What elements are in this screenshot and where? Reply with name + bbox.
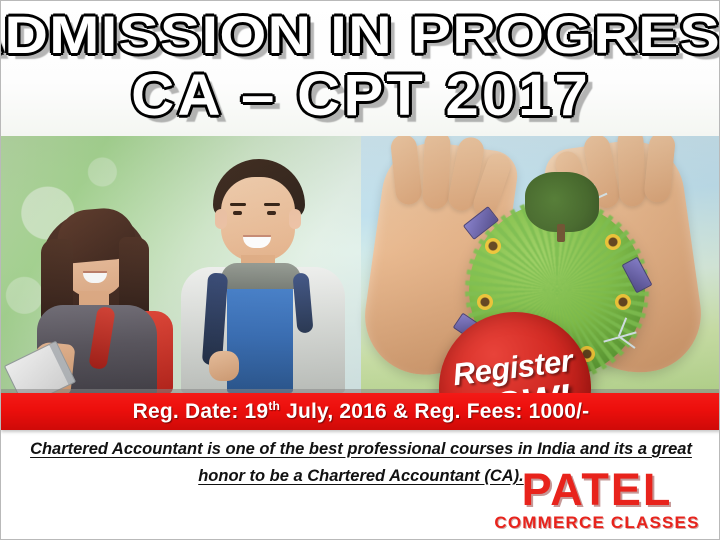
headline-course: CA – CPT 2017 (1, 64, 720, 128)
tagline-line-1: Chartered Accountant is one of the best … (12, 435, 710, 462)
hand-left-finger-2 (422, 136, 451, 209)
hand-right-finger-4 (643, 136, 676, 203)
wind-turbine-icon (603, 331, 636, 342)
registration-date-prefix: Reg. Date: 19 (133, 400, 269, 423)
logo-name: PATEL (489, 467, 705, 513)
boy-hair (213, 159, 305, 219)
girl-hair-side-left (41, 239, 73, 335)
girl-neck (79, 291, 109, 313)
boy-eye-right (267, 211, 276, 215)
registration-banner: Reg. Date: 19th July, 2016 & Reg. Fees: … (1, 393, 720, 430)
badge-text-group: Register NOW! (430, 303, 599, 393)
hand-right-finger-1 (552, 148, 596, 216)
girl-eye-left (75, 251, 83, 255)
boy-jacket (181, 267, 345, 393)
sunflower-icon (615, 294, 631, 310)
boy-brow-left (230, 203, 246, 206)
photo-band: Register NOW! (1, 136, 720, 393)
hand-left-finger-3 (446, 136, 486, 213)
registration-banner-text: Reg. Date: 19th July, 2016 & Reg. Fees: … (133, 399, 590, 424)
students-photo (1, 136, 391, 393)
girl-hair-front (55, 206, 137, 265)
boy-ear-left (215, 209, 227, 229)
sunflower-icon (477, 294, 493, 310)
sunflower-icon (605, 234, 621, 250)
sunflower-icon (485, 238, 501, 254)
girl-backpack-strap (88, 306, 115, 370)
hand-right-finger-3 (617, 136, 646, 207)
boy-neck (241, 255, 275, 277)
boy-blue-shirt (227, 267, 293, 393)
solar-panel-icon (463, 206, 499, 240)
wind-turbine-icon (585, 184, 595, 217)
boy-brow-right (264, 203, 280, 206)
girl-red-backpack (113, 311, 173, 393)
boy-eye-left (233, 211, 242, 215)
poster-advertisement: ADMISSION IN PROGRESS CA – CPT 2017 (0, 0, 720, 540)
logo-subtitle: COMMERCE CLASSES (489, 513, 705, 533)
hand-left-finger-1 (390, 136, 423, 206)
student-boy (169, 155, 359, 393)
institute-logo: PATEL COMMERCE CLASSES (489, 467, 705, 533)
girl-top (37, 305, 157, 393)
solar-panel-icon (622, 257, 653, 294)
boy-ear-right (289, 209, 301, 229)
boy-backpack-strap-right (292, 272, 313, 333)
girl-hair-back (41, 211, 149, 337)
student-girl (27, 193, 177, 393)
headline-primary: ADMISSION IN PROGRESS (1, 7, 720, 65)
photo-top-edge (1, 136, 720, 139)
girl-face (63, 223, 125, 297)
boy-smile (243, 237, 271, 248)
boy-face (221, 177, 295, 261)
poster-header: ADMISSION IN PROGRESS CA – CPT 2017 (1, 1, 720, 136)
ordinal-suffix: th (268, 399, 280, 413)
hand-left-finger-4 (470, 150, 514, 218)
register-now-badge[interactable]: Register NOW! (439, 354, 591, 393)
girl-smile (83, 273, 107, 283)
boy-collar (221, 263, 301, 289)
boy-backpack-strap-left (202, 272, 228, 365)
girl-arm (30, 341, 75, 393)
tree-icon (525, 172, 599, 232)
girl-eye-right (103, 251, 111, 255)
boy-hand (209, 351, 239, 381)
registration-fees-suffix: July, 2016 & Reg. Fees: 1000/- (280, 400, 589, 423)
girl-hair-side-right (119, 237, 149, 325)
girl-notebook (4, 341, 76, 393)
hand-right-finger-2 (582, 136, 622, 210)
